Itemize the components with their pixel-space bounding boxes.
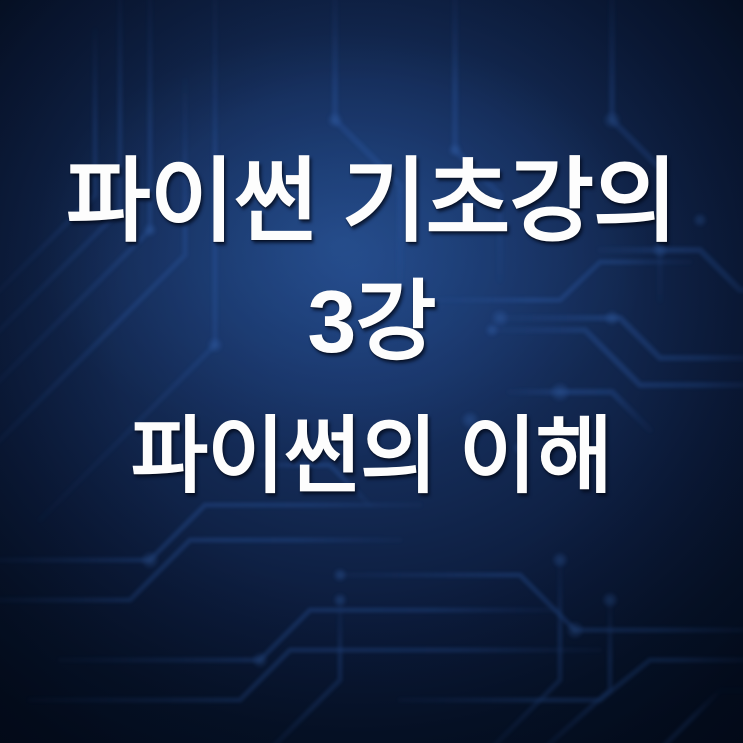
title-block: 파이썬 기초강의 3강 파이썬의 이해: [0, 150, 743, 504]
course-title-line: 파이썬 기초강의: [0, 150, 743, 254]
lesson-subtitle-line: 파이썬의 이해: [0, 408, 743, 504]
lesson-number-line: 3강: [0, 272, 743, 372]
title-card: 파이썬 기초강의 3강 파이썬의 이해: [0, 0, 743, 743]
